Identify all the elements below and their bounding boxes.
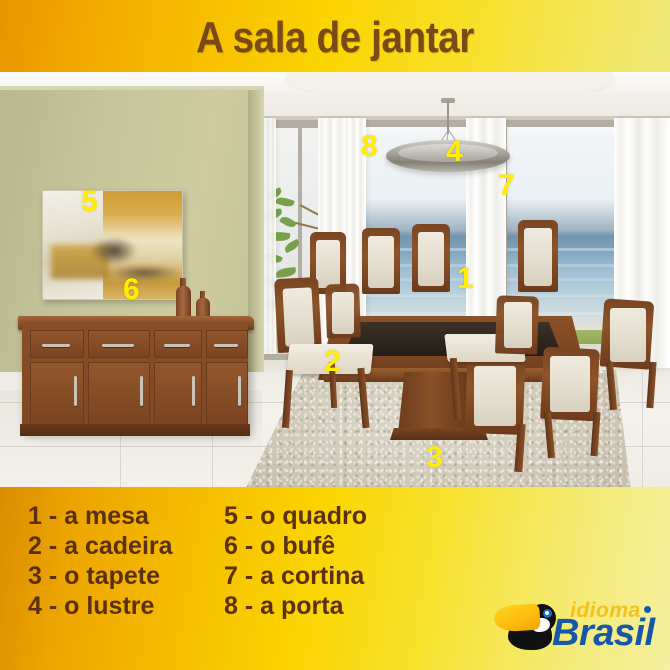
chair-backrest-pad (610, 308, 646, 362)
chair-backrest-pad (504, 302, 532, 348)
legend-item: 3 - o tapete (28, 561, 173, 591)
poster: A sala de jantar (0, 0, 670, 670)
curtain-panel[interactable] (262, 118, 276, 354)
brand-logo[interactable]: idioma Brasil (494, 596, 656, 654)
floor-tile-seam (642, 372, 643, 487)
room-photo: 1 2 3 4 5 6 7 8 (0, 72, 670, 487)
legend-item: 5 - o quadro (224, 501, 367, 531)
page-title: A sala de jantar (40, 14, 630, 62)
chair-backrest-pad (474, 366, 516, 426)
chair-backrest-pad (418, 232, 444, 286)
chair-backrest-pad (550, 356, 590, 412)
callout-2: 2 (324, 347, 341, 377)
callout-4: 4 (446, 137, 463, 167)
header-band: A sala de jantar (0, 0, 670, 72)
buffet-door[interactable] (206, 362, 248, 426)
legend-item: 1 - a mesa (28, 501, 173, 531)
toucan-beak-icon (493, 603, 541, 632)
legend-column-right: 5 - o quadro 6 - o bufê 7 - a cortina 8 … (224, 501, 367, 621)
legend-item: 2 - a cadeira (28, 531, 173, 561)
legend-column-left: 1 - a mesa 2 - a cadeira 3 - o tapete 4 … (28, 501, 173, 621)
legend-item: 4 - o lustre (28, 591, 173, 621)
callout-8: 8 (361, 132, 378, 162)
legend-item: 7 - a cortina (224, 561, 367, 591)
callout-3: 3 (426, 443, 443, 473)
callout-1: 1 (457, 264, 474, 294)
buffet-handle[interactable] (238, 376, 241, 406)
buffet-handle[interactable] (192, 376, 195, 406)
legend-item: 6 - o bufê (224, 531, 367, 561)
buffet-handle[interactable] (164, 344, 190, 347)
wall-painting[interactable] (42, 190, 183, 300)
callout-7: 7 (498, 171, 515, 201)
chair-backrest-pad (316, 240, 340, 288)
chair-backrest-pad (368, 236, 394, 288)
logo-word-brasil: Brasil (552, 614, 655, 652)
wall-corner-edge (248, 90, 264, 392)
painting-brushstroke (91, 237, 137, 265)
buffet-handle[interactable] (214, 344, 238, 347)
chair-backrest-pad (332, 292, 354, 334)
buffet-handle[interactable] (42, 344, 70, 347)
chair-backrest-pad (283, 287, 315, 346)
toucan-eye-highlight-icon (545, 611, 549, 615)
legend-item: 8 - a porta (224, 591, 367, 621)
callout-6: 6 (123, 275, 140, 305)
callout-5: 5 (81, 187, 98, 217)
chair-backrest-pad (524, 228, 552, 286)
buffet-handle[interactable] (140, 376, 143, 406)
painting-brushstroke (109, 265, 179, 281)
buffet-handle[interactable] (102, 344, 134, 347)
buffet-plinth (20, 424, 250, 436)
buffet-handle[interactable] (74, 376, 77, 406)
